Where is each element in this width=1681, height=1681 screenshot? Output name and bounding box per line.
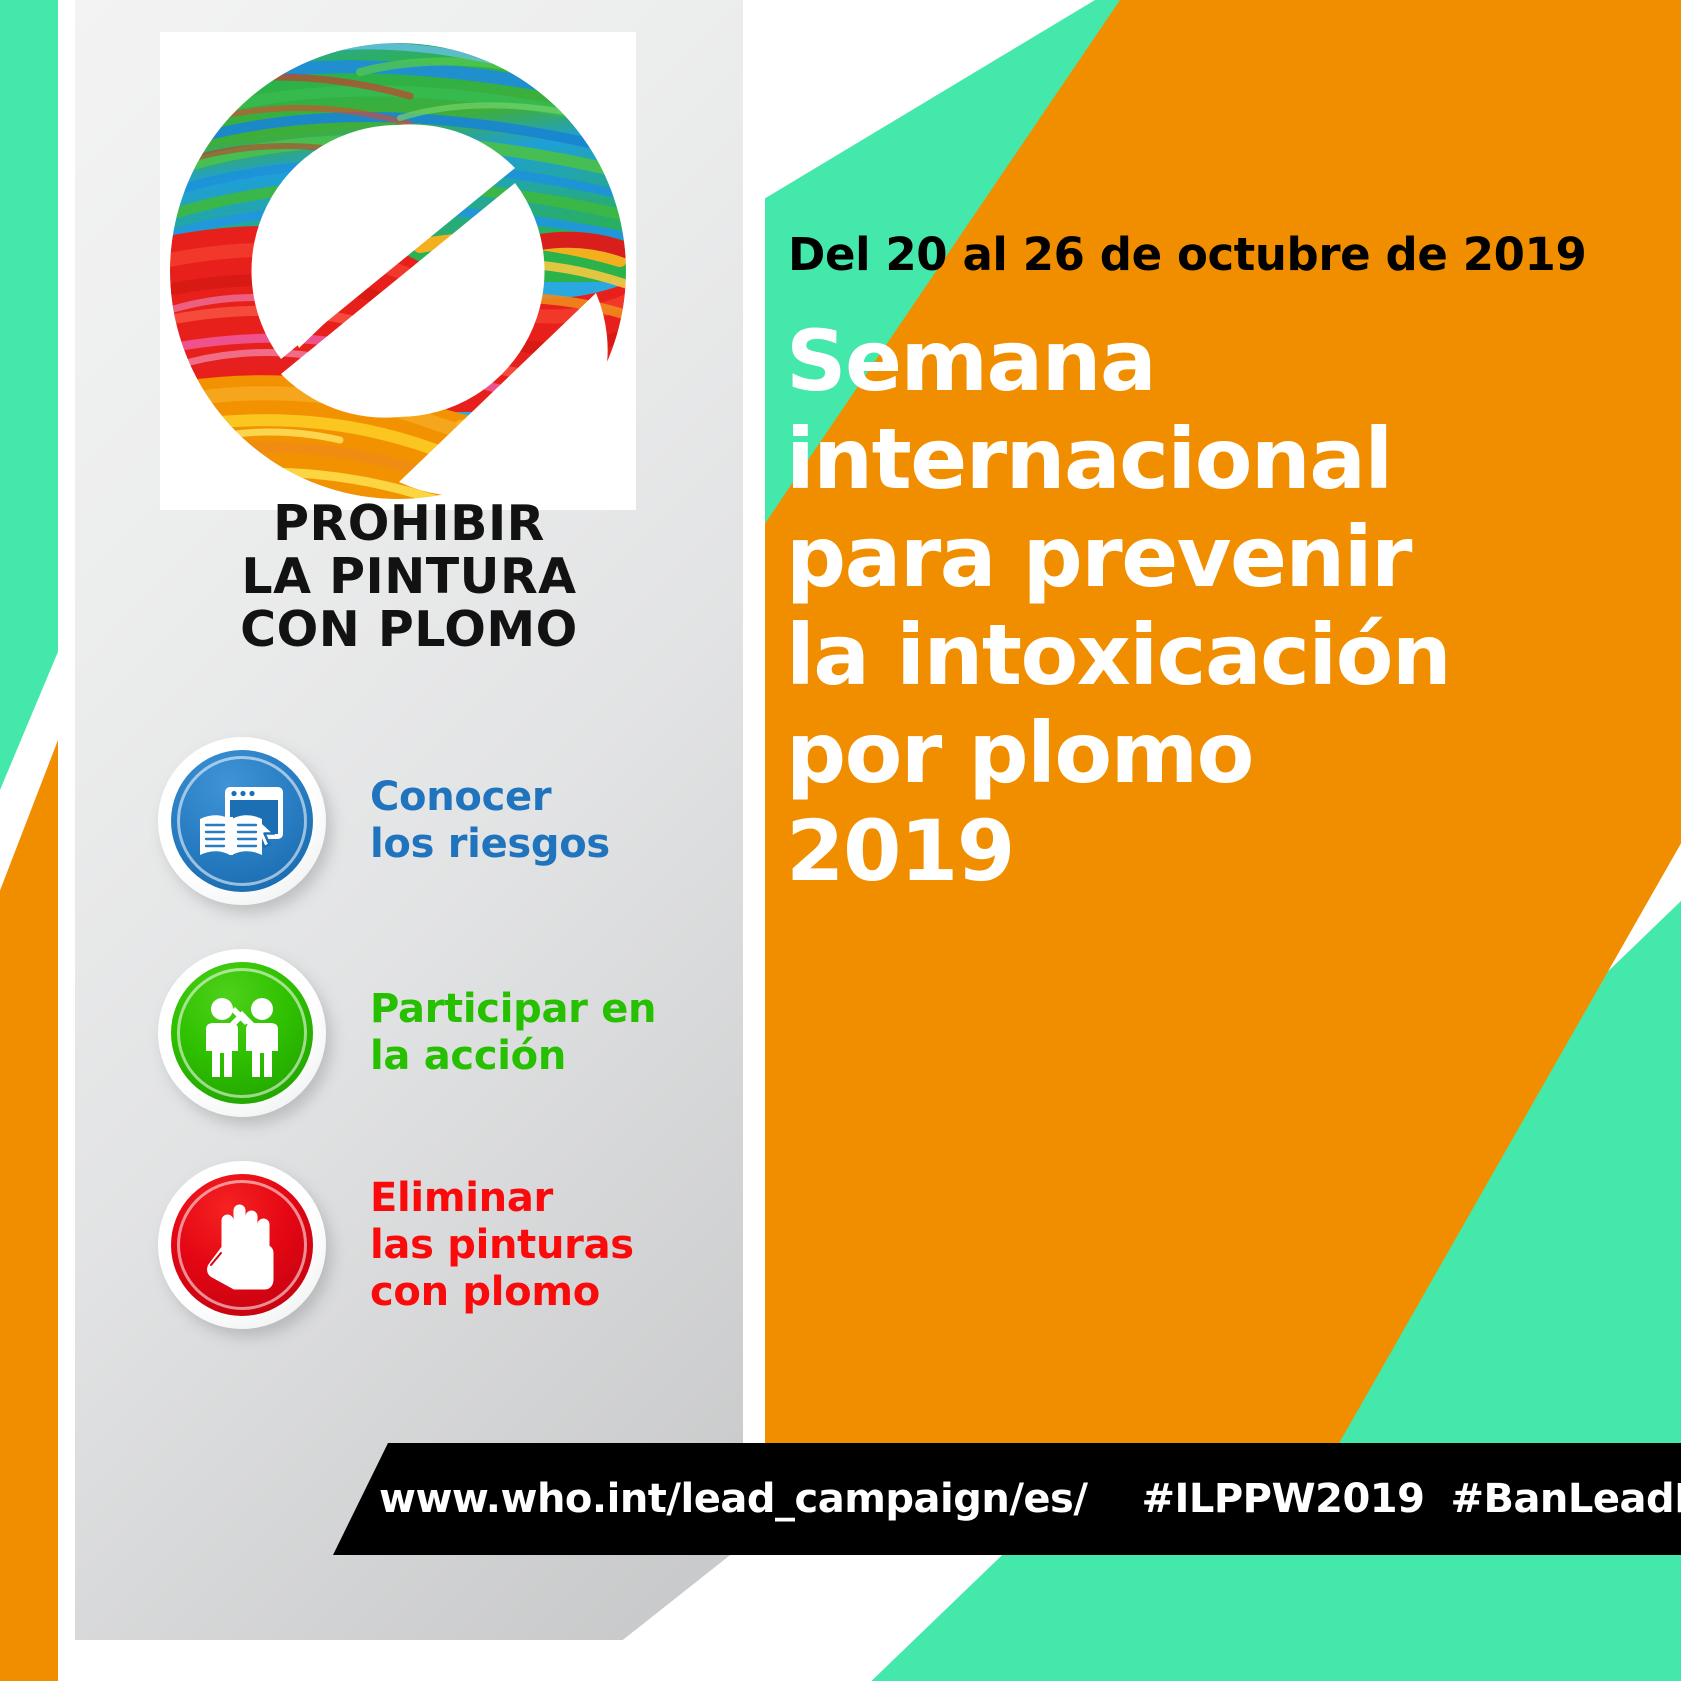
action-item-participar-en-la-accion[interactable]: Participar en la acción (158, 927, 718, 1139)
hashtag-ilppw2019[interactable]: #ILPPW2019 (1141, 1476, 1424, 1522)
action-item-conocer-los-riesgos[interactable]: Conocer los riesgos (158, 715, 718, 927)
action-label-line-2: las pinturas (370, 1222, 634, 1269)
hashtag-banleadpaint[interactable]: #BanLeadPaint (1450, 1476, 1681, 1522)
two-people-high-five-icon (194, 985, 290, 1081)
badge-conocer[interactable] (158, 737, 326, 905)
action-label-eliminar: Eliminar las pinturas con plomo (370, 1175, 634, 1316)
campaign-date-line: Del 20 al 26 de octubre de 2019 (788, 228, 1586, 281)
book-browser-cursor-icon (194, 773, 290, 869)
headline-line-6: 2019 (786, 802, 1546, 900)
action-label-line-1: Conocer (370, 774, 610, 821)
action-label-participar: Participar en la acción (370, 986, 656, 1080)
badge-ring-green (171, 962, 313, 1104)
footer-bar: www.who.int/lead_campaign/es/ #ILPPW2019… (333, 1443, 1681, 1555)
headline-line-1: Semana (786, 312, 1546, 410)
action-item-eliminar-las-pinturas-con-plomo[interactable]: Eliminar las pinturas con plomo (158, 1139, 718, 1351)
action-label-line-1: Participar en (370, 986, 656, 1033)
badge-ring-blue (171, 750, 313, 892)
campaign-url[interactable]: www.who.int/lead_campaign/es/ (379, 1476, 1087, 1522)
action-label-line-2: la acción (370, 1033, 656, 1080)
raised-hand-stop-icon (194, 1197, 290, 1293)
logo-caption: PROHIBIR LA PINTURA CON PLOMO (75, 497, 743, 656)
action-label-line-1: Eliminar (370, 1175, 634, 1222)
headline-line-3: para prevenir (786, 508, 1546, 606)
action-list: Conocer los riesgos (158, 715, 718, 1351)
campaign-poster: PROHIBIR LA PINTURA CON PLOMO (0, 0, 1681, 1681)
campaign-headline: Semana internacional para prevenir la in… (786, 312, 1546, 900)
logo-caption-line-1: PROHIBIR (75, 497, 743, 550)
footer-content: www.who.int/lead_campaign/es/ #ILPPW2019… (379, 1476, 1681, 1522)
logo-caption-line-3: CON PLOMO (75, 603, 743, 656)
paint-circle-prohibition-logo (160, 32, 636, 510)
headline-line-2: internacional (786, 410, 1546, 508)
logo-caption-line-2: LA PINTURA (75, 550, 743, 603)
headline-line-5: por plomo (786, 704, 1546, 802)
logo-container (160, 32, 636, 510)
left-strip-orange (0, 740, 58, 1681)
headline-line-4: la intoxicación (786, 606, 1546, 704)
action-label-line-3: con plomo (370, 1269, 634, 1316)
badge-eliminar[interactable] (158, 1161, 326, 1329)
badge-ring-red (171, 1174, 313, 1316)
badge-participar[interactable] (158, 949, 326, 1117)
left-strip-teal (0, 0, 58, 790)
action-label-line-2: los riesgos (370, 821, 610, 868)
action-label-conocer: Conocer los riesgos (370, 774, 610, 868)
